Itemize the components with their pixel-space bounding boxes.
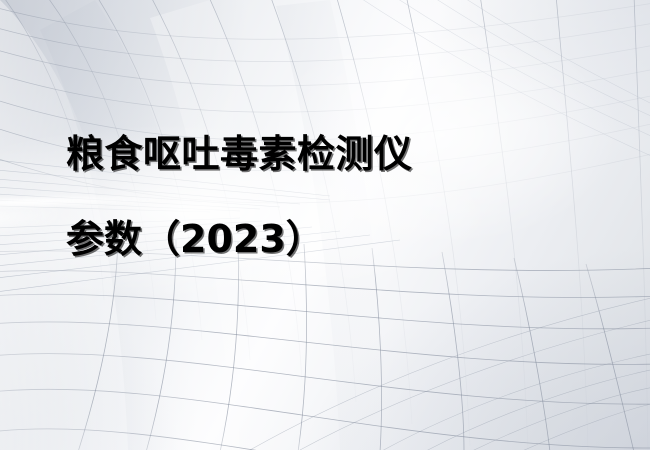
title-line-1: 粮食呕吐毒素检测仪: [66, 112, 586, 197]
banner-image: 粮食呕吐毒素检测仪 参数（2023）: [0, 0, 650, 450]
title-line-2: 参数（2023）: [66, 197, 586, 282]
title-block: 粮食呕吐毒素检测仪 参数（2023）: [66, 112, 586, 282]
